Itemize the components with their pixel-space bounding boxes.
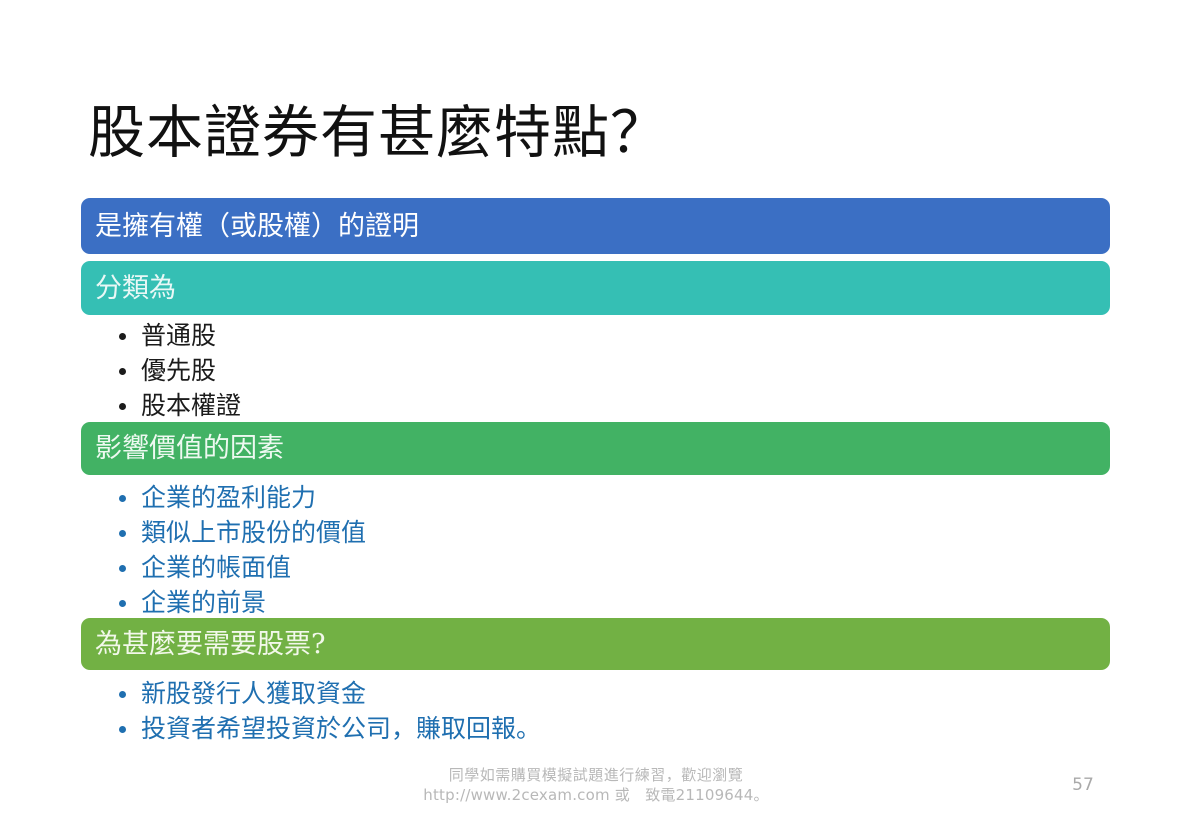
section-bar-ownership: 是擁有權（或股權）的證明	[81, 198, 1110, 254]
list-item: 企業的盈利能力	[113, 480, 366, 515]
list-item: 新股發行人獲取資金	[113, 676, 541, 711]
section-bar-value-factors: 影響價值的因素	[81, 422, 1110, 475]
footer-line-contact: http://www.2cexam.com 或 致電21109644。	[0, 785, 1192, 805]
bullet-list-value-factors: 企業的盈利能力 類似上市股份的價值 企業的帳面值 企業的前景	[113, 480, 366, 620]
section-heading-ownership: 是擁有權（或股權）的證明	[81, 213, 419, 240]
list-item: 優先股	[113, 353, 241, 388]
section-heading-classification: 分類為	[81, 275, 176, 302]
footer-line-promo: 同學如需購買模擬試題進行練習，歡迎瀏覽	[0, 765, 1192, 785]
section-heading-why-stocks: 為甚麼要需要股票?	[81, 631, 325, 658]
list-item: 企業的前景	[113, 585, 366, 620]
bullet-list-why-stocks: 新股發行人獲取資金 投資者希望投資於公司，賺取回報。	[113, 676, 541, 746]
section-bar-classification: 分類為	[81, 261, 1110, 315]
section-bar-why-stocks: 為甚麼要需要股票?	[81, 618, 1110, 670]
list-item: 類似上市股份的價值	[113, 515, 366, 550]
list-item: 投資者希望投資於公司，賺取回報。	[113, 711, 541, 746]
list-item: 普通股	[113, 318, 241, 353]
list-item: 企業的帳面值	[113, 550, 366, 585]
section-heading-value-factors: 影響價值的因素	[81, 435, 284, 462]
bullet-list-classification: 普通股 優先股 股本權證	[113, 318, 241, 423]
page-number: 57	[1063, 775, 1103, 795]
slide-footer: 同學如需購買模擬試題進行練習，歡迎瀏覽 http://www.2cexam.co…	[0, 765, 1192, 805]
page-title: 股本證券有甚麼特點？	[88, 104, 1108, 164]
list-item: 股本權證	[113, 388, 241, 423]
slide-canvas: 股本證券有甚麼特點？ 是擁有權（或股權）的證明 分類為 普通股 優先股 股本權證…	[0, 0, 1192, 825]
